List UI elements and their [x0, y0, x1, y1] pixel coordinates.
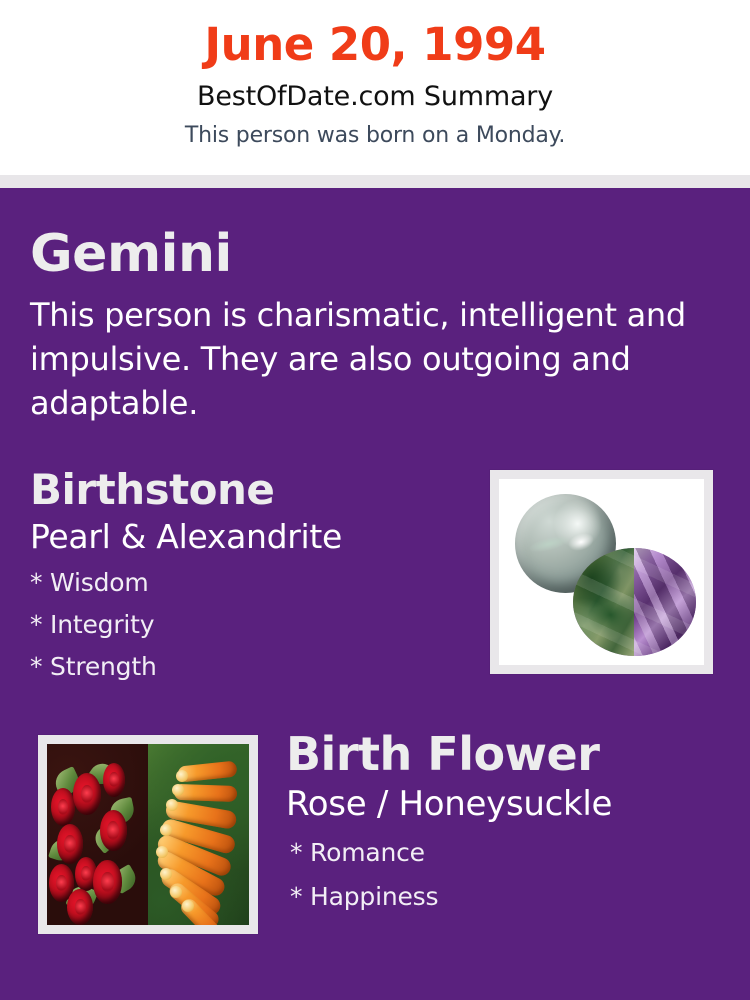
- birth-flower-names: Rose / Honeysuckle: [286, 787, 612, 821]
- birthstone-section: Birthstone Pearl & Alexandrite * Wisdom …: [30, 467, 720, 679]
- birth-flower-section: Birth Flower Rose / Honeysuckle * Romanc…: [30, 731, 720, 934]
- alexandrite-gem-graphic: [573, 548, 696, 656]
- birthstone-heading: Birthstone: [30, 469, 342, 511]
- birth-flower-photo: [47, 744, 249, 925]
- birthstone-photo: [499, 479, 704, 665]
- page-title-date: June 20, 1994: [0, 22, 750, 67]
- card-header: June 20, 1994 BestOfDate.com Summary Thi…: [0, 0, 750, 175]
- gem-facet-overlay: [573, 548, 696, 656]
- summary-card: June 20, 1994 BestOfDate.com Summary Thi…: [0, 0, 750, 1000]
- site-subtitle: BestOfDate.com Summary: [0, 83, 750, 110]
- born-day-note: This person was born on a Monday.: [0, 125, 750, 147]
- birth-flower-heading: Birth Flower: [286, 731, 612, 777]
- birthstone-trait-list: * Wisdom * Integrity * Strength: [30, 570, 342, 679]
- birthstone-names: Pearl & Alexandrite: [30, 520, 342, 553]
- zodiac-sign-name: Gemini: [30, 188, 720, 280]
- birth-flower-text: Birth Flower Rose / Honeysuckle * Romanc…: [286, 731, 612, 909]
- orange-honeysuckle-graphic: [148, 744, 249, 925]
- birthstone-photo-frame: [490, 470, 713, 674]
- list-item: * Romance: [290, 840, 612, 865]
- birth-flower-trait-list: * Romance * Happiness: [290, 840, 612, 909]
- birthstone-text: Birthstone Pearl & Alexandrite * Wisdom …: [30, 467, 342, 679]
- list-item: * Happiness: [290, 884, 612, 909]
- flower-photo-split: [47, 744, 249, 925]
- list-item: * Wisdom: [30, 570, 342, 595]
- header-divider: [0, 175, 750, 188]
- list-item: * Strength: [30, 654, 342, 679]
- birth-flower-photo-frame: [38, 735, 258, 934]
- details-panel: Gemini This person is charismatic, intel…: [0, 188, 750, 1000]
- red-roses-graphic: [47, 744, 148, 925]
- list-item: * Integrity: [30, 612, 342, 637]
- zodiac-description: This person is charismatic, intelligent …: [30, 294, 710, 425]
